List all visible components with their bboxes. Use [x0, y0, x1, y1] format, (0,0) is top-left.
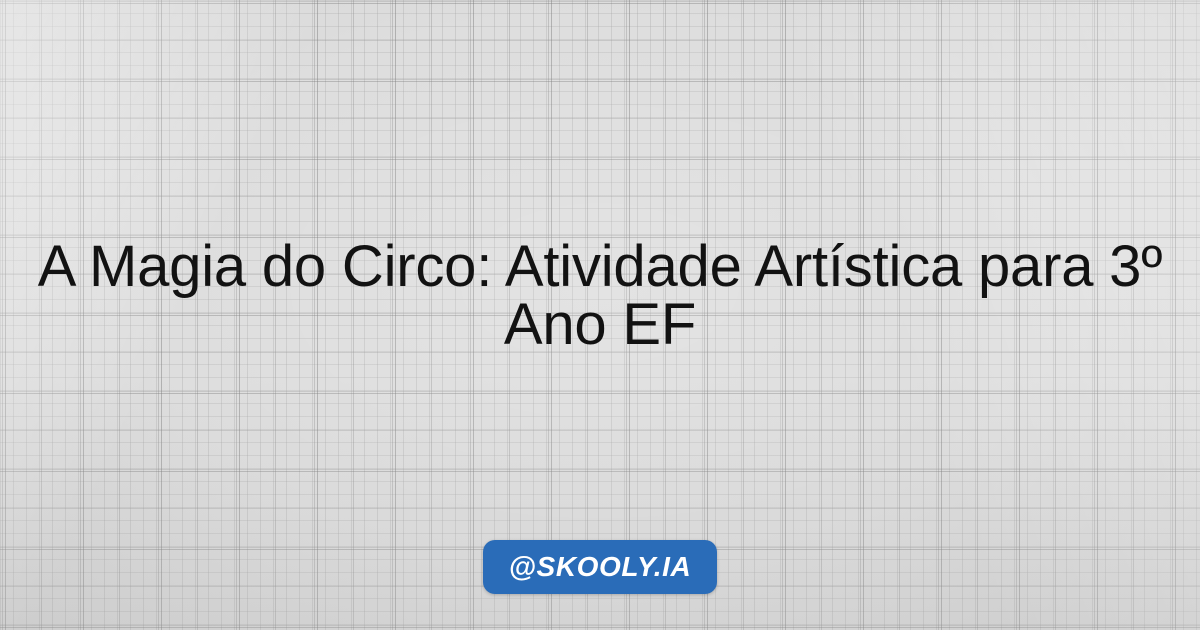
social-share-card: A Magia do Circo: Atividade Artística pa…	[0, 0, 1200, 630]
brand-handle-badge: @SKOOLY.IA	[483, 540, 718, 594]
page-title: A Magia do Circo: Atividade Artística pa…	[0, 238, 1200, 354]
handle-badge-container: @SKOOLY.IA	[0, 540, 1200, 594]
